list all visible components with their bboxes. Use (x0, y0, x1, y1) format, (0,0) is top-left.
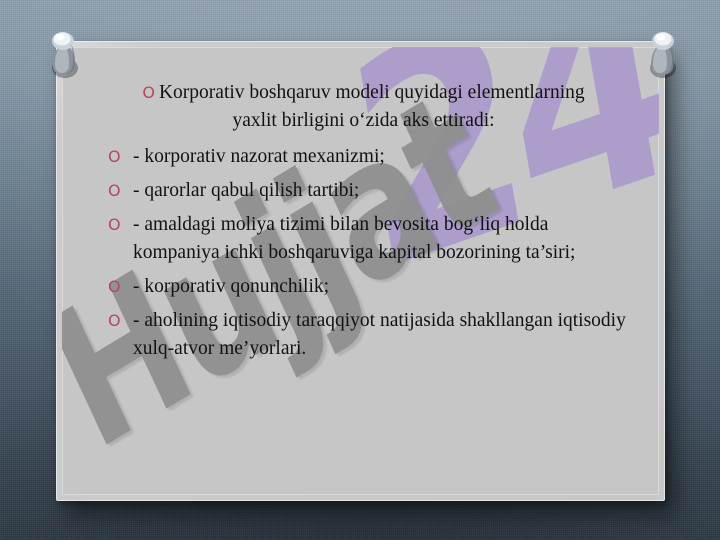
list-item: O - qarorlar qabul qilish tartibi; (108, 177, 633, 204)
slide-canvas: 24 Hujjat OKorporativ boshqaruv modeli q… (0, 0, 720, 540)
list-item: O- amaldagi moliya tizimi bilan bevosita… (108, 211, 633, 266)
list-item: O- korporativ nazorat mexanizmi; (108, 143, 633, 170)
content-board: 24 Hujjat OKorporativ boshqaruv modeli q… (56, 41, 665, 501)
list-item: O- korporativ qonunchilik; (108, 273, 633, 300)
pushpin-left-icon (41, 26, 87, 82)
list-item-text: - aholining iqtisodiy taraqqiyot natijas… (133, 310, 626, 358)
list-item-text: - korporativ nazorat mexanizmi; (133, 146, 385, 167)
list-item-text: Korporativ boshqaruv modeli quyidagi ele… (159, 82, 585, 131)
list-item: OKorporativ boshqaruv modeli quyidagi el… (124, 79, 603, 134)
list-item-text: - korporativ qonunchilik; (133, 276, 329, 297)
ring-bullet-icon: O (108, 211, 121, 239)
ring-bullet-icon: O (108, 273, 121, 301)
list-item-text: - qarorlar qabul qilish tartibi; (133, 180, 359, 201)
ring-bullet-icon: O (108, 143, 121, 171)
content-board-surface: 24 Hujjat OKorporativ boshqaruv modeli q… (62, 47, 659, 495)
pushpin-right-icon (639, 26, 685, 82)
slide-content: OKorporativ boshqaruv modeli quyidagi el… (62, 47, 659, 495)
ring-bullet-icon: O (108, 177, 121, 205)
bullet-list: OKorporativ boshqaruv modeli quyidagi el… (108, 79, 633, 362)
list-item: O- aholining iqtisodiy taraqqiyot natija… (108, 307, 633, 362)
ring-bullet-icon: O (142, 83, 155, 102)
ring-bullet-icon: O (108, 307, 121, 335)
list-item-text: - amaldagi moliya tizimi bilan bevosita … (133, 214, 575, 262)
